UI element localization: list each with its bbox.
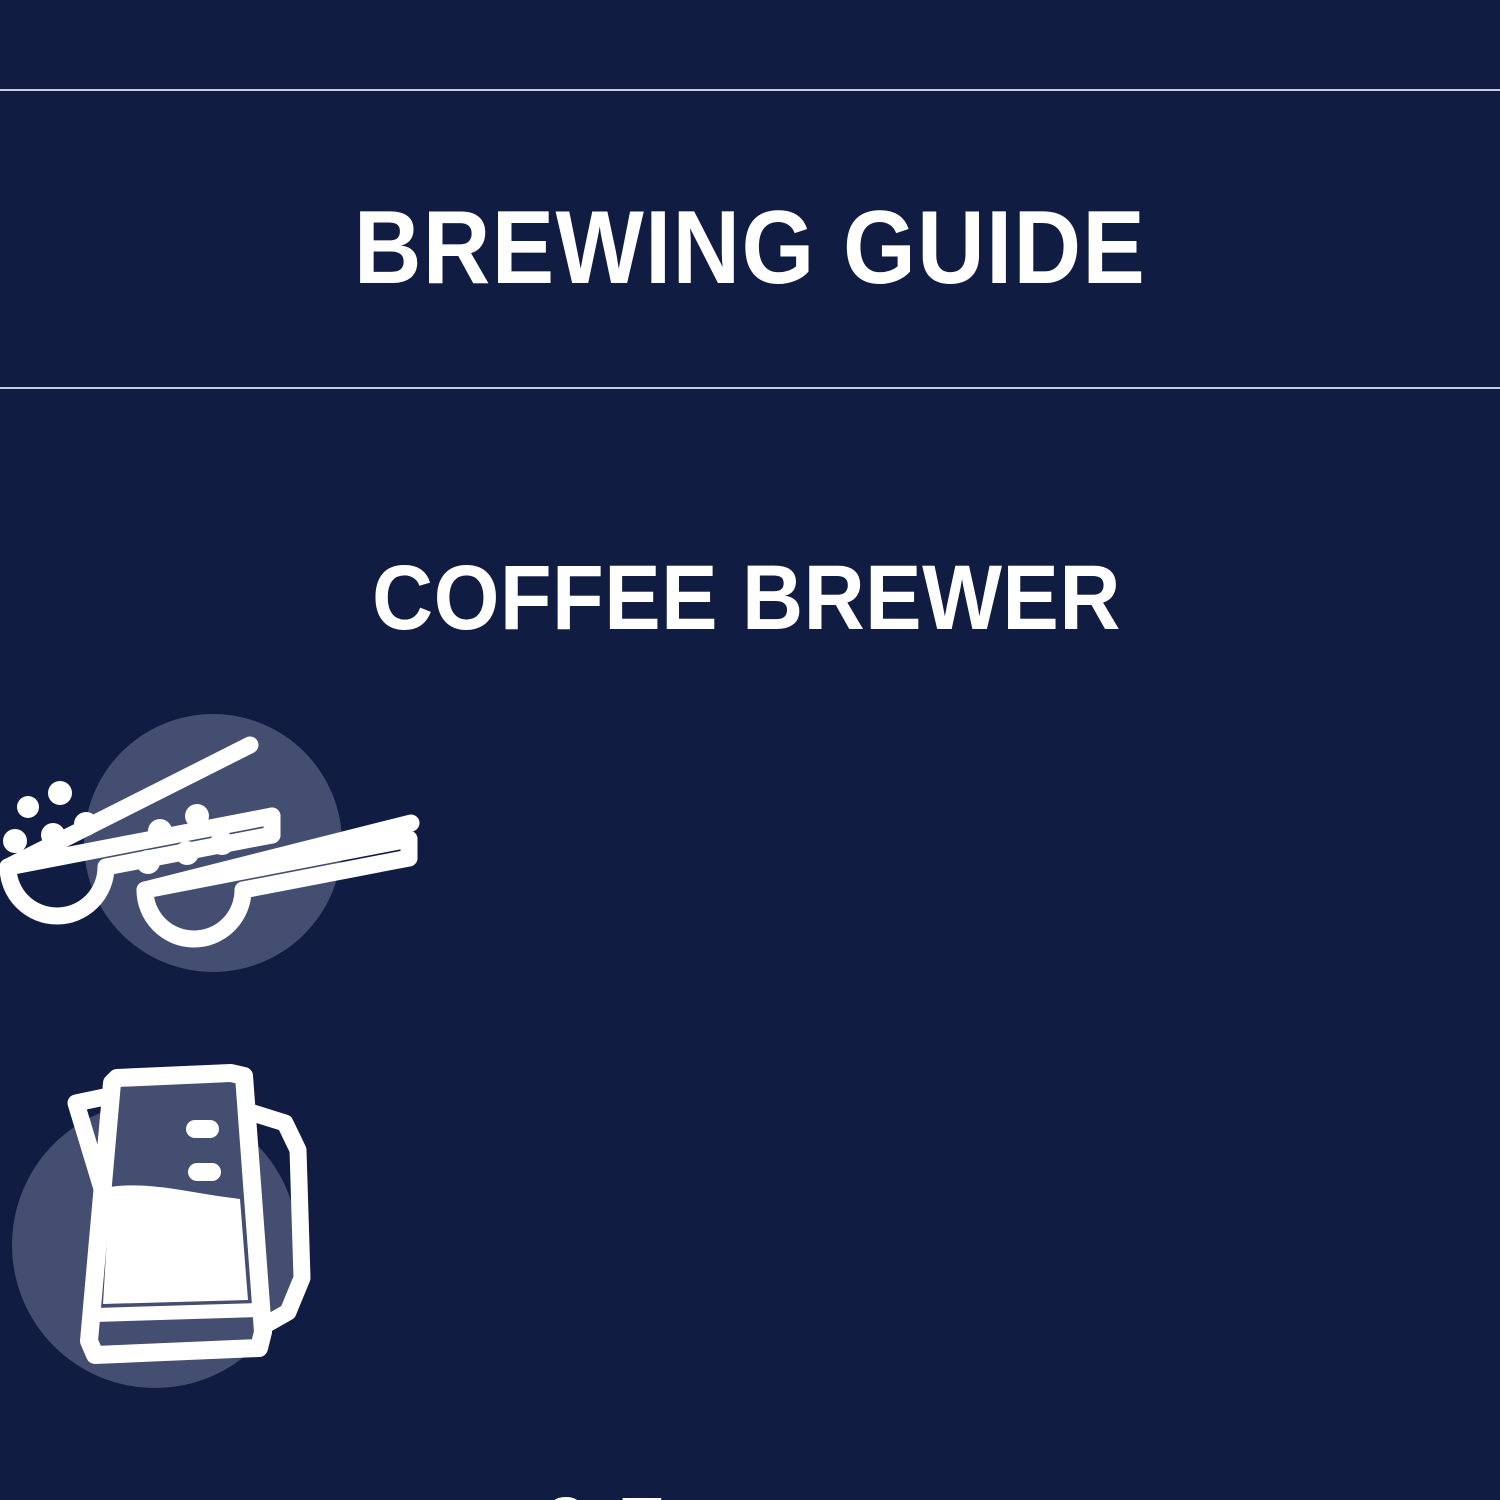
coffee-amount-suffix: of ground coffee [793,1494,1364,1500]
coffee-measure-text: 0.5 oz of ground coffee [540,1483,1426,1500]
coffee-scoop-icon [0,690,470,995]
carafe-water-level [103,1185,248,1304]
header-divider-top [0,89,1500,91]
carafe-base-band [95,1310,261,1315]
brewing-guide-page: BREWING GUIDE COFFEE BREWER [0,0,1500,1500]
coffee-amount: 0.5 oz [540,1477,793,1500]
step-row-ground-coffee: 0.5 oz of ground coffee [0,690,1500,990]
page-title: BREWING GUIDE [75,196,1425,300]
section-heading-coffee-brewer: COFFEE BREWER [372,552,1121,644]
water-carafe-icon [0,1060,470,1405]
step-row-water: for every 8 oz of water [0,1060,1500,1390]
header-divider-bottom [0,387,1500,389]
